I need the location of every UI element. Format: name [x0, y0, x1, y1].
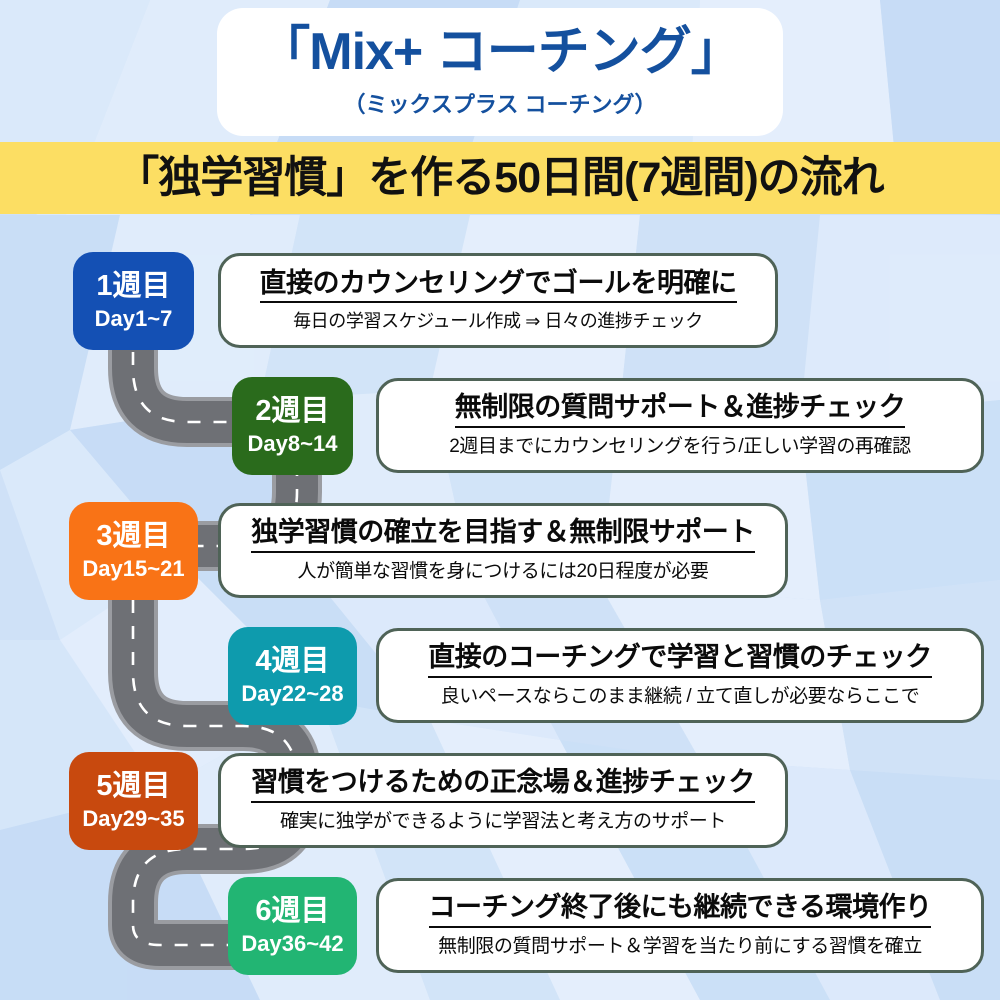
- week-badge-6-week: 6週目: [255, 896, 329, 926]
- week-badge-6-days: Day36~42: [241, 931, 343, 956]
- brand-subtitle: （ミックスプラス コーチング）: [343, 87, 656, 119]
- brand-title-card: 「Mix+ コーチング」 （ミックスプラス コーチング）: [217, 8, 783, 136]
- week-badge-2-week: 2週目: [255, 396, 329, 426]
- infographic-root: 1週目 Day1~7 直接のカウンセリングでゴールを明確に 毎日の学習スケジュー…: [0, 0, 1000, 1000]
- step-card-5-subtitle: 確実に独学ができるように学習法と考え方のサポート: [280, 812, 726, 833]
- week-badge-6[interactable]: 6週目 Day36~42: [228, 877, 357, 975]
- headline-banner-text: 「独学習慣」を作る50日間(7週間)の流れ: [116, 157, 883, 200]
- step-card-5-title: 習慣をつけるための正念場＆進捗チェック: [251, 768, 755, 803]
- week-badge-3[interactable]: 3週目 Day15~21: [69, 502, 198, 600]
- step-card-5[interactable]: 習慣をつけるための正念場＆進捗チェック 確実に独学ができるように学習法と考え方の…: [218, 753, 788, 848]
- week-badge-4[interactable]: 4週目 Day22~28: [228, 627, 357, 725]
- step-card-1-subtitle: 毎日の学習スケジュール作成 ⇒ 日々の進捗チェック: [293, 312, 703, 332]
- step-card-2-subtitle: 2週目までにカウンセリングを行う/正しい学習の再確認: [449, 437, 910, 458]
- step-card-6-title: コーチング終了後にも継続できる環境作り: [429, 893, 932, 928]
- step-card-6[interactable]: コーチング終了後にも継続できる環境作り 無制限の質問サポート＆学習を当たり前にす…: [376, 878, 984, 973]
- step-card-4-title: 直接のコーチングで学習と習慣のチェック: [428, 643, 932, 678]
- step-card-4[interactable]: 直接のコーチングで学習と習慣のチェック 良いペースならこのまま継続 / 立て直し…: [376, 628, 984, 723]
- week-badge-5-days: Day29~35: [82, 806, 184, 831]
- week-badge-1-week: 1週目: [96, 271, 170, 301]
- step-card-1[interactable]: 直接のカウンセリングでゴールを明確に 毎日の学習スケジュール作成 ⇒ 日々の進捗…: [218, 253, 778, 348]
- headline-banner: 「独学習慣」を作る50日間(7週間)の流れ: [0, 142, 1000, 214]
- brand-title: 「Mix+ コーチング」: [258, 26, 742, 78]
- step-card-3-subtitle: 人が簡単な習慣を身につけるには20日程度が必要: [298, 562, 709, 583]
- step-card-1-title: 直接のカウンセリングでゴールを明確に: [260, 269, 737, 304]
- step-card-2[interactable]: 無制限の質問サポート＆進捗チェック 2週目までにカウンセリングを行う/正しい学習…: [376, 378, 984, 473]
- week-badge-2-days: Day8~14: [248, 431, 338, 456]
- week-badge-1[interactable]: 1週目 Day1~7: [73, 252, 194, 350]
- week-badge-5[interactable]: 5週目 Day29~35: [69, 752, 198, 850]
- step-card-3[interactable]: 独学習慣の確立を目指す＆無制限サポート 人が簡単な習慣を身につけるには20日程度…: [218, 503, 788, 598]
- week-badge-2[interactable]: 2週目 Day8~14: [232, 377, 353, 475]
- week-badge-1-days: Day1~7: [95, 306, 173, 331]
- step-card-4-subtitle: 良いペースならこのまま継続 / 立て直しが必要ならここで: [441, 687, 920, 708]
- week-badge-4-week: 4週目: [255, 646, 329, 676]
- step-card-2-title: 無制限の質問サポート＆進捗チェック: [455, 393, 906, 428]
- week-badge-3-week: 3週目: [96, 521, 170, 551]
- step-card-3-title: 独学習慣の確立を目指す＆無制限サポート: [251, 518, 755, 553]
- week-badge-3-days: Day15~21: [82, 556, 184, 581]
- week-badge-4-days: Day22~28: [241, 681, 343, 706]
- step-card-6-subtitle: 無制限の質問サポート＆学習を当たり前にする習慣を確立: [438, 937, 922, 958]
- week-badge-5-week: 5週目: [96, 771, 170, 801]
